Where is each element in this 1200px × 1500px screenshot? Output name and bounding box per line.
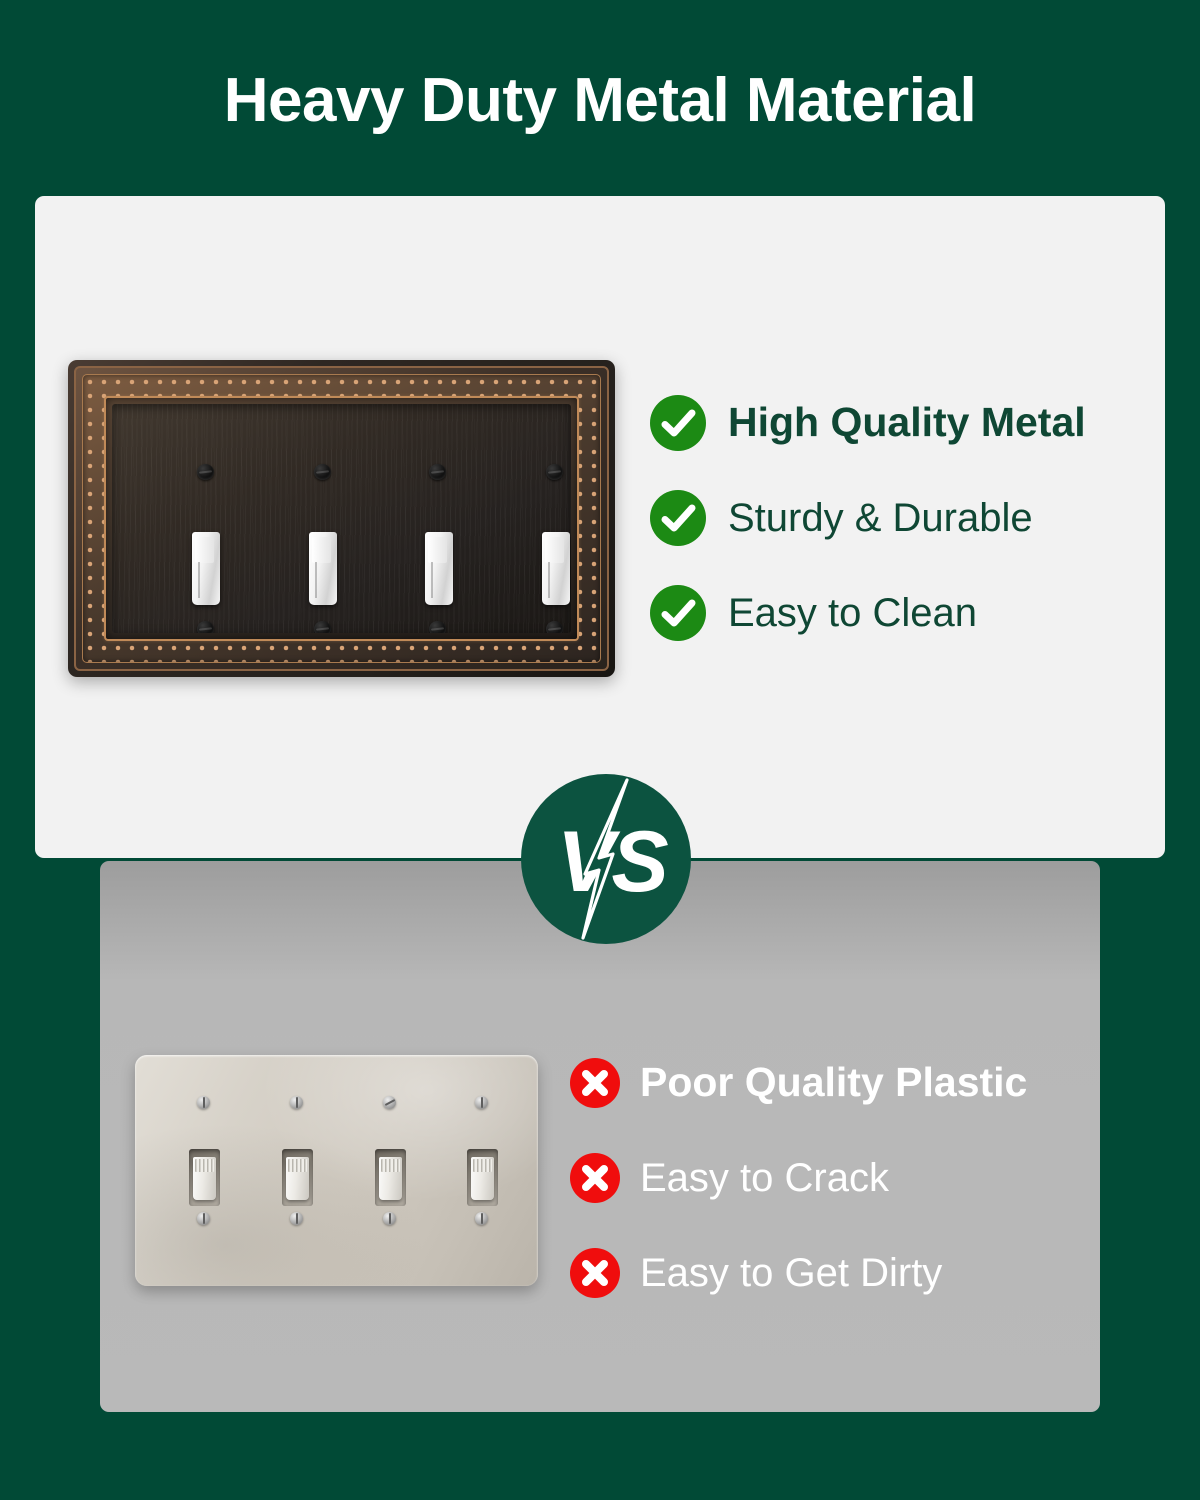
plastic-toggle-switch xyxy=(189,1149,220,1206)
metal-screw-hole xyxy=(197,464,214,480)
feature-item: High Quality Metal xyxy=(650,375,1086,470)
cross-circle-icon xyxy=(570,1153,620,1203)
plastic-screw xyxy=(383,1212,396,1225)
plastic-screw xyxy=(290,1212,303,1225)
cross-circle-icon xyxy=(570,1248,620,1298)
plastic-switch-plate-image xyxy=(135,1055,538,1286)
feature-item: Sturdy & Durable xyxy=(650,470,1086,565)
metal-screw-hole xyxy=(197,621,214,633)
versus-badge: VS xyxy=(521,774,691,944)
metal-screw-hole xyxy=(314,621,331,633)
feature-label: Easy to Crack xyxy=(640,1158,889,1198)
check-circle-icon xyxy=(650,585,706,641)
metal-plate-center-field xyxy=(112,404,571,633)
plastic-toggle-switch xyxy=(467,1149,498,1206)
metal-toggle-switch xyxy=(192,532,220,605)
check-circle-icon xyxy=(650,490,706,546)
feature-item: Easy to Get Dirty xyxy=(570,1225,1027,1320)
feature-item: Easy to Clean xyxy=(650,565,1086,660)
feature-label: High Quality Metal xyxy=(728,402,1086,443)
plastic-screw xyxy=(383,1096,396,1109)
metal-screw-hole xyxy=(429,464,446,480)
metal-screw-hole xyxy=(429,621,446,633)
metal-toggle-switch xyxy=(542,532,570,605)
plastic-screw xyxy=(197,1212,210,1225)
metal-toggle-switch xyxy=(425,532,453,605)
metal-screw-hole xyxy=(314,464,331,480)
plastic-screw xyxy=(475,1096,488,1109)
feature-label: Easy to Clean xyxy=(728,593,977,633)
plastic-screw xyxy=(197,1096,210,1109)
feature-list-bad: Poor Quality Plastic Easy to Crack Easy … xyxy=(570,1035,1027,1320)
metal-screw-hole xyxy=(546,464,563,480)
feature-label: Poor Quality Plastic xyxy=(640,1062,1027,1103)
feature-label: Sturdy & Durable xyxy=(728,498,1033,538)
page-title: Heavy Duty Metal Material xyxy=(0,70,1200,132)
svg-text:VS: VS xyxy=(557,814,668,910)
plastic-toggle-switch xyxy=(375,1149,406,1206)
metal-screw-hole xyxy=(546,621,563,633)
check-circle-icon xyxy=(650,395,706,451)
plastic-toggle-switch xyxy=(282,1149,313,1206)
plastic-screw xyxy=(290,1096,303,1109)
feature-item: Easy to Crack xyxy=(570,1130,1027,1225)
comparison-panel-good: High Quality Metal Sturdy & Durable Easy… xyxy=(35,196,1165,858)
plastic-screw xyxy=(475,1212,488,1225)
metal-switch-plate-image xyxy=(68,360,615,677)
cross-circle-icon xyxy=(570,1058,620,1108)
feature-label: Easy to Get Dirty xyxy=(640,1253,942,1293)
feature-list-good: High Quality Metal Sturdy & Durable Easy… xyxy=(650,375,1086,660)
feature-item: Poor Quality Plastic xyxy=(570,1035,1027,1130)
versus-lightning-graphic: VS xyxy=(521,774,691,944)
metal-toggle-switch xyxy=(309,532,337,605)
